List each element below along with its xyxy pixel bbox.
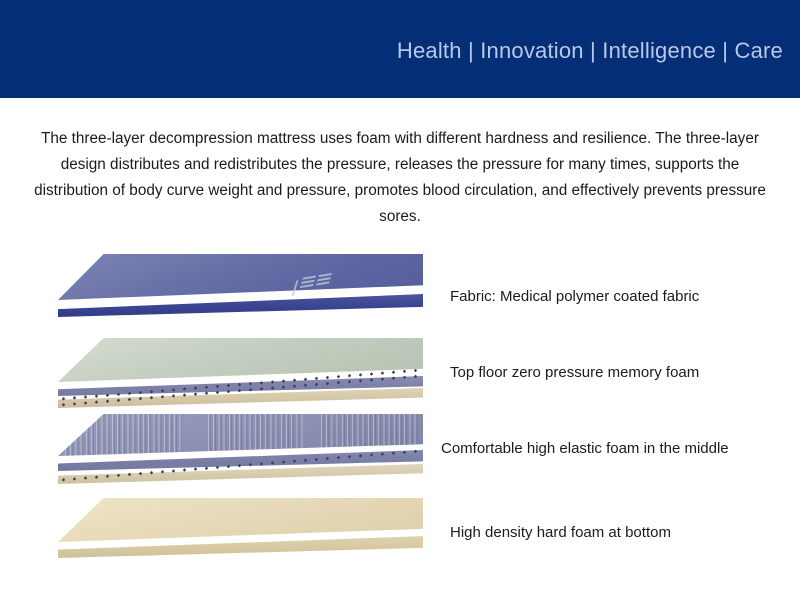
header-title: Health | Innovation | Intelligence | Car… (397, 38, 800, 64)
slide-canvas: Health | Innovation | Intelligence | Car… (0, 0, 800, 600)
slab-top-face (58, 414, 423, 456)
intro-paragraph: The three-layer decompression mattress u… (30, 126, 770, 230)
caption-memory-foam: Top floor zero pressure memory foam (450, 364, 699, 381)
layer-row-hard-foam (0, 492, 800, 584)
groove-channels (58, 414, 423, 456)
caption-fabric: Fabric: Medical polymer coated fabric (450, 288, 699, 305)
grooved-high-elastic-foam-slab (58, 414, 423, 492)
blue-fabric-cover-slab (58, 254, 423, 332)
cream-high-density-foam-slab (58, 498, 423, 576)
slab-top-face (58, 254, 423, 300)
caption-hard-foam: High density hard foam at bottom (450, 524, 671, 541)
header-banner: Health | Innovation | Intelligence | Car… (0, 0, 800, 98)
caption-high-elastic-foam: Comfortable high elastic foam in the mid… (441, 440, 729, 457)
slab-top-face (58, 498, 423, 542)
green-memory-foam-slab (58, 338, 423, 416)
